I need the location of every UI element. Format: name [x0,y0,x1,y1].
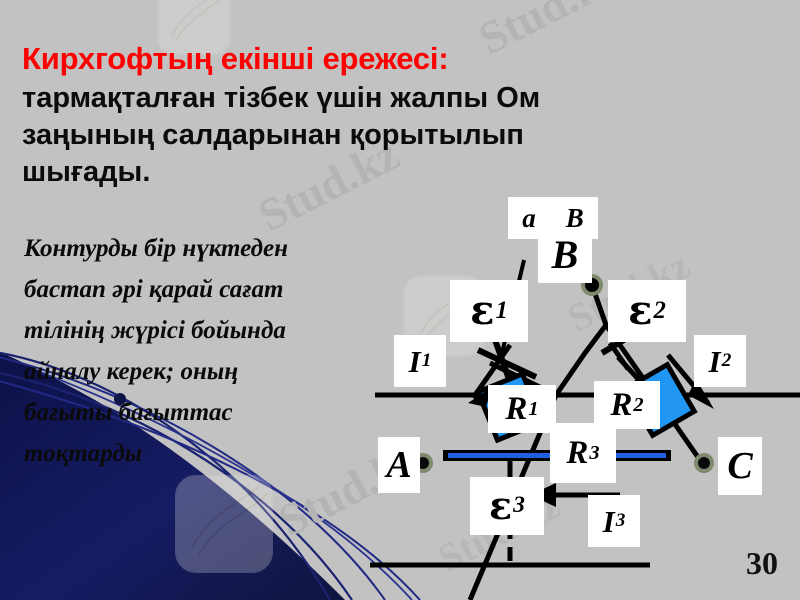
note-line-6: тоқтарды [24,433,424,474]
emf-label-3: ε3 [470,477,544,535]
resistor-3-index: 3 [588,443,599,463]
title-block: Кирхгофтың екінші ережесі: тармақталған … [22,42,782,191]
slide-canvas: Stud.kz Stud.kz Stud.kz Stud.kz Stud.kz … [0,0,800,600]
note-line-5: бағыты бағыттас [24,392,424,433]
node-b-text: B [552,235,579,275]
wire-branch-b-left [556,285,606,395]
page-title: Кирхгофтың екінші ережесі: [22,42,782,76]
title-line-3: заңының салдарынан қорытылып [22,117,782,154]
title-line-4: шығады. [22,154,782,191]
current-3-symbol: I [603,506,615,537]
note-line-2: бастап әрі қарай сағат [24,269,424,310]
current-1-index: 1 [421,351,432,370]
note-line-4: айналу керек; оның [24,351,424,392]
resistor-label-2: R2 [594,381,660,429]
node-c-text: C [727,447,752,485]
resistor-label-1: R1 [488,385,556,433]
emf-1-index: 1 [494,299,507,324]
current-2-symbol: I [709,346,721,377]
emf-3-index: 3 [512,494,525,518]
emf-1-symbol: ε [470,291,494,331]
resistor-1-symbol: R [505,393,527,426]
emf-label-1: ε1 [450,280,528,342]
emf-label-2: ε2 [608,280,686,342]
emf-3-symbol: ε [489,487,512,525]
node-label-b: B [538,227,592,283]
emf-2-index: 2 [652,299,665,324]
current-2-index: 2 [721,351,732,370]
node-label-a: A [378,437,420,493]
loop-note-a: a [522,205,536,232]
current-label-3: I3 [588,495,640,547]
current-1-symbol: I [409,346,421,377]
page-number: 30 [746,545,778,582]
node-a-text: A [386,446,411,484]
resistor-2-symbol: R [610,389,632,422]
note-line-1: Контурды бір нүктеден [24,228,424,269]
title-line-2: тармақталған тізбек үшін жалпы Ом [22,80,782,117]
resistor-label-3: R3 [550,423,616,483]
resistor-1-index: 1 [527,399,538,419]
current-label-2: I2 [694,335,746,387]
note-block: Контурды бір нүктеден бастап әрі қарай с… [24,228,424,474]
resistor-3-symbol: R [566,437,588,470]
circuit-diagram: a B B ε1 ε2 I1 I2 R1 R2 R3 A [370,195,800,600]
emf-2-symbol: ε [628,291,652,331]
node-dot-c [694,453,714,473]
node-label-c: C [718,437,762,495]
resistor-2-index: 2 [632,395,643,415]
current-label-1: I1 [394,335,446,387]
current-3-index: 3 [615,511,626,530]
note-line-3: тілінің жүрісі бойында [24,310,424,351]
